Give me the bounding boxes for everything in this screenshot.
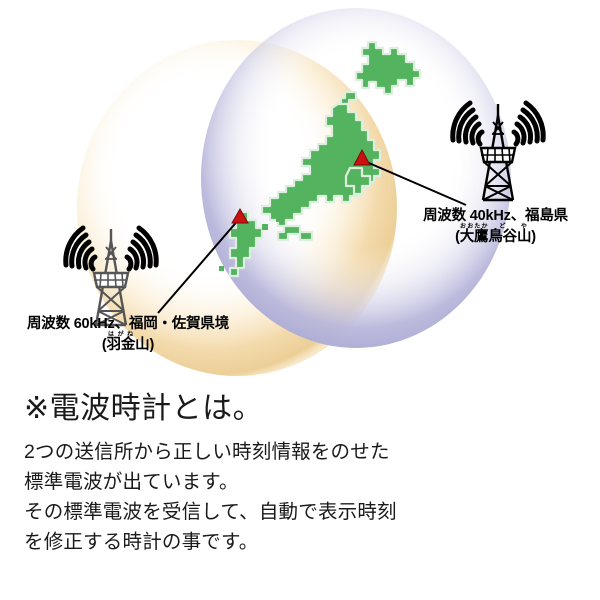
ruby-base-2: 鷹: [474, 229, 488, 245]
ruby-base-2: 山: [135, 337, 149, 353]
island-dot-2: [262, 224, 268, 230]
body-line-2: 標準電波が出ています。: [24, 467, 584, 497]
ruby-text-2: たか: [474, 224, 488, 230]
island-dot-3: [276, 216, 284, 222]
radio-coverage-diagram: 周波数 40kHz、福島県 (大おお鷹たか鳥谷ど山や) 周波数 60kHz、福岡…: [0, 0, 600, 385]
ruby-text-1: はがね: [107, 332, 136, 338]
ruby-base-3: 鳥谷: [488, 229, 517, 245]
ruby-base-4: 山: [517, 229, 531, 245]
island-dot-1: [219, 266, 224, 271]
page-title: ※電波時計とは。: [24, 392, 584, 427]
ruby-text-3: ど: [488, 224, 517, 230]
body-line-4: を修正する時計の事です。: [24, 527, 584, 557]
label-east-line2: (大おお鷹たか鳥谷ど山や): [398, 224, 593, 245]
label-transmitter-west: 周波数 60kHz、福岡・佐賀県境 (羽金はがね山): [8, 316, 248, 353]
radio-wave-arcs-east-right: [514, 103, 543, 144]
mountain-name-west-ruby: 羽金はがね山: [107, 337, 150, 353]
label-east-line1: 周波数 40kHz、福島県: [398, 208, 593, 224]
paren-close: ): [531, 229, 536, 245]
ruby-text-4: や: [517, 224, 531, 230]
mountain-name-east-ruby: 大おお鷹たか鳥谷ど山や: [460, 229, 532, 245]
body-line-1: 2つの送信所から正しい時刻情報をのせた: [24, 437, 584, 467]
label-transmitter-east: 周波数 40kHz、福島県 (大おお鷹たか鳥谷ど山や): [398, 208, 593, 245]
paren-close: ): [149, 337, 154, 353]
ruby-text-1: おお: [460, 224, 474, 230]
explanation-text-block: ※電波時計とは。 2つの送信所から正しい時刻情報をのせた 標準電波が出ています。…: [24, 392, 584, 557]
ruby-base-1: 羽金: [107, 337, 136, 353]
label-west-line2: (羽金はがね山): [8, 332, 248, 353]
label-west-line1: 周波数 60kHz、福岡・佐賀県境: [8, 316, 248, 332]
body-line-3: その標準電波を受信して、自動で表示時刻: [24, 497, 584, 527]
ruby-base-1: 大: [460, 229, 474, 245]
page-root: 周波数 40kHz、福島県 (大おお鷹たか鳥谷ど山や) 周波数 60kHz、福岡…: [0, 0, 600, 600]
